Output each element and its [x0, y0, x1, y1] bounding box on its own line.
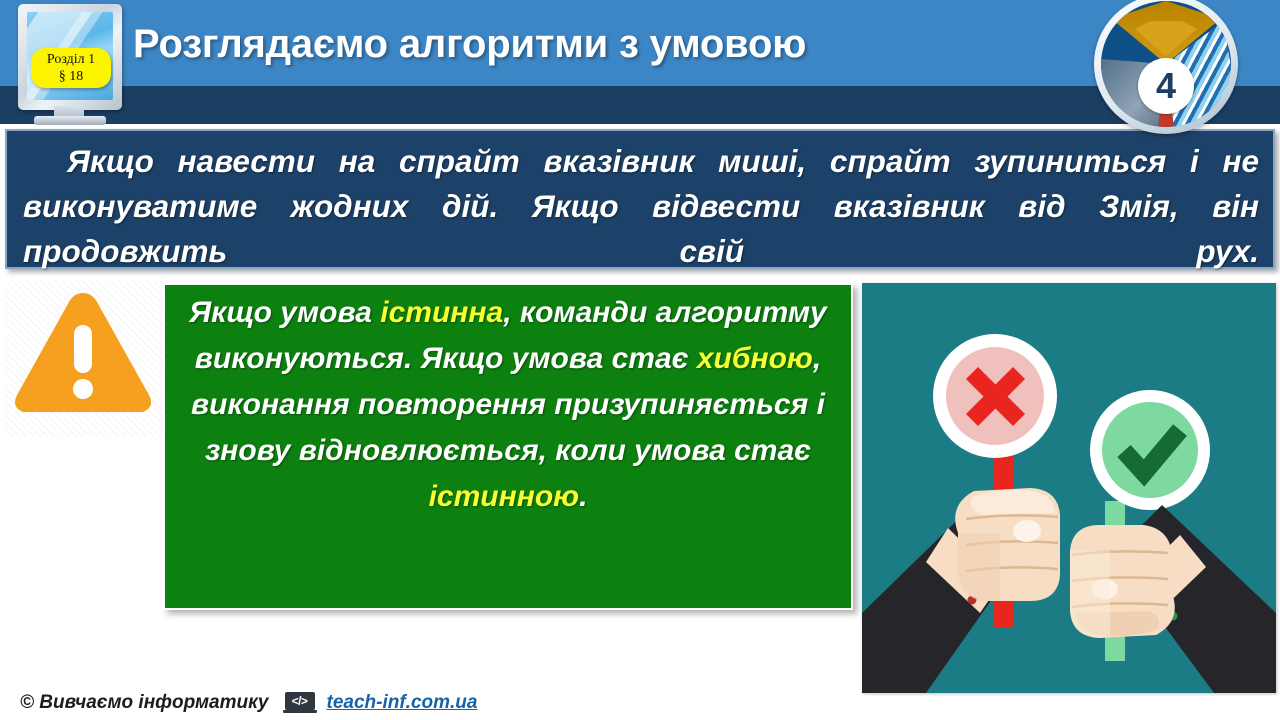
slide-number-medallion: 4 [1094, 0, 1238, 134]
hands-with-signs-illustration [862, 283, 1276, 693]
medallion-number: 4 [1138, 58, 1194, 114]
slide-footer: © Вивчаємо інформатику </> teach-inf.com… [20, 688, 477, 718]
rule-highlight-term: істинна [380, 296, 503, 329]
rule-highlight-term: хибною [697, 342, 813, 375]
warning-triangle-icon [8, 283, 158, 423]
statement-panel: Якщо навести на спрайт вказівник миші, с… [5, 129, 1275, 269]
footer-website-link[interactable]: teach-inf.com.ua [327, 692, 478, 714]
footer-credit: © Вивчаємо інформатику [20, 692, 269, 714]
rule-panel: Якщо умова істинна, команди алгоритму ви… [163, 283, 853, 610]
chapter-badge-line1: Розділ 1 [47, 51, 95, 68]
chapter-badge-line2: § 18 [59, 68, 84, 85]
monitor-icon: Розділ 1 § 18 [6, 2, 132, 128]
rule-text: Якщо умова істинна, команди алгоритму ви… [177, 290, 839, 520]
right-fist [1070, 525, 1175, 638]
left-fist [955, 488, 1060, 601]
chapter-badge: Розділ 1 § 18 [31, 48, 111, 88]
code-icon-label: </> [285, 692, 315, 710]
slide-header: Розглядаємо алгоритми з умовою Розділ 1 … [0, 0, 1280, 128]
rule-text-segment: . [579, 480, 587, 513]
header-divider [0, 124, 1280, 128]
page-title: Розглядаємо алгоритми з умовою [133, 16, 1013, 72]
code-icon-base [283, 710, 317, 713]
monitor-base [34, 116, 106, 125]
header-band-secondary [0, 86, 1280, 124]
code-laptop-icon: </> [283, 692, 317, 714]
rule-highlight-term: істинною [429, 480, 580, 513]
rule-text-segment: Якщо умова [189, 296, 380, 329]
